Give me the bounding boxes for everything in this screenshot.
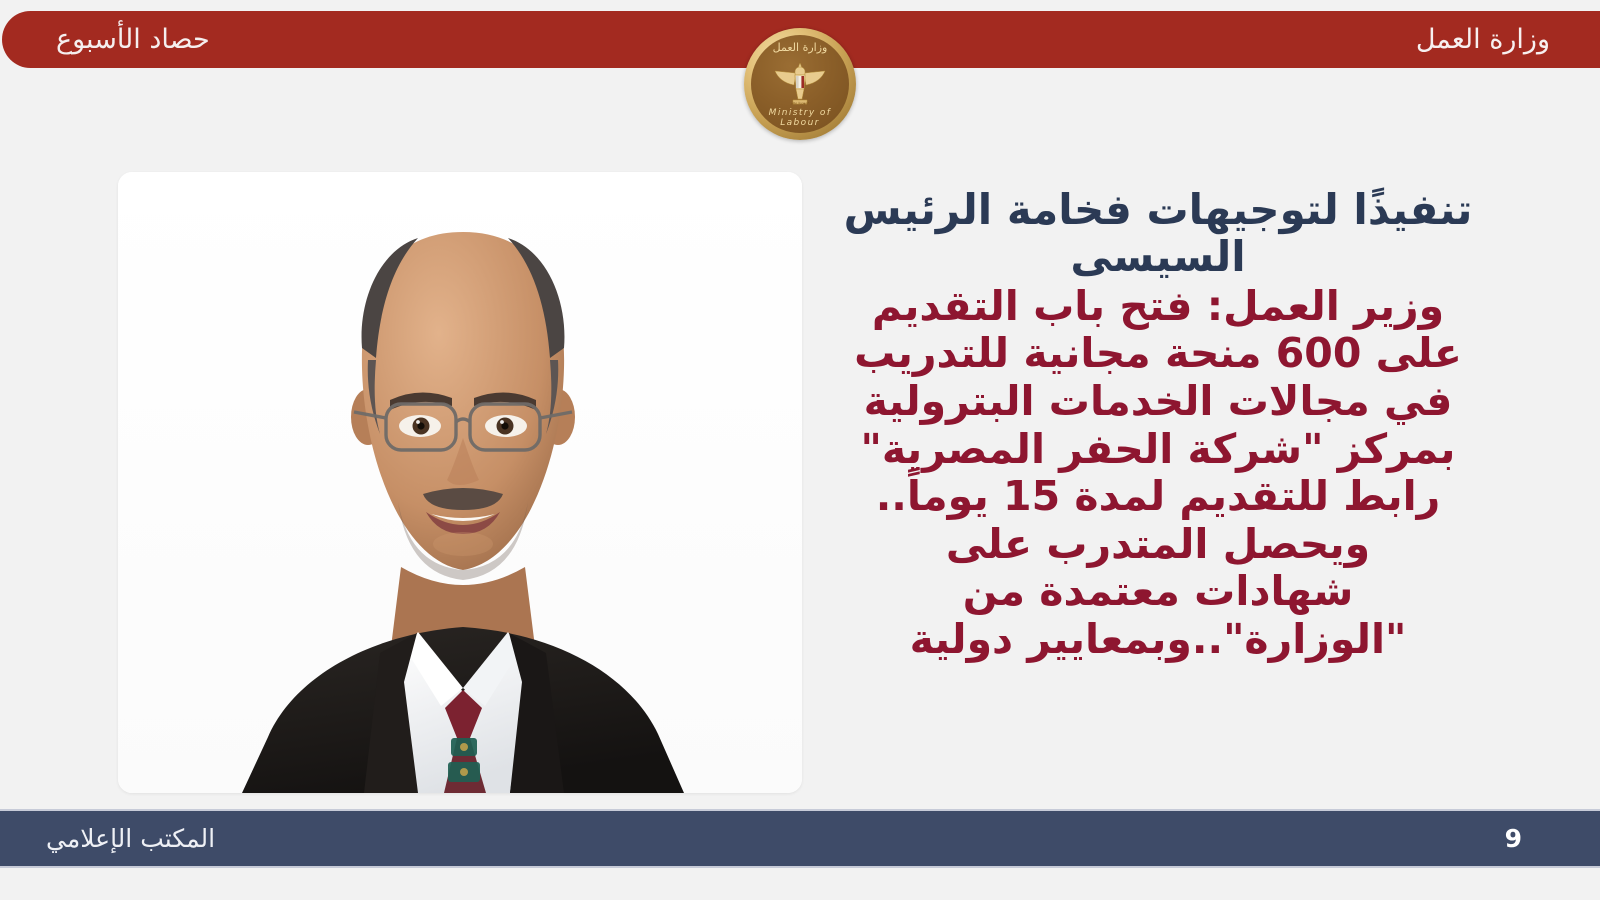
- body-line-1: وزير العمل: فتح باب التقديم: [822, 283, 1494, 331]
- svg-text:جمهورية مصر: جمهورية مصر: [790, 100, 809, 104]
- body-line-3: في مجالات الخدمات البترولية: [822, 378, 1494, 426]
- headline: تنفيذًا لتوجيهات فخامة الرئيس السيسى: [822, 186, 1494, 281]
- body-line-4: بمركز "شركة الحفر المصرية": [822, 426, 1494, 474]
- body-line-8: "الوزارة"..وبمعايير دولية: [822, 616, 1494, 664]
- logo-latin-label: Ministry of Labour: [751, 108, 849, 128]
- footer-media-office-label: المكتب الإعلامي: [46, 809, 215, 868]
- minister-portrait-image: [118, 172, 802, 793]
- logo-arabic-label: وزارة العمل: [751, 41, 849, 54]
- ministry-logo: وزارة العمل جمهورية مصر Ministry of Labo…: [744, 28, 856, 140]
- header-ministry-label: وزارة العمل: [1416, 11, 1550, 68]
- body-line-6: ويحصل المتدرب على: [822, 521, 1494, 569]
- headline-line-1: تنفيذًا لتوجيهات فخامة: [1007, 185, 1473, 234]
- portrait-photo-card: [118, 172, 802, 793]
- body-paragraph: وزير العمل: فتح باب التقديم على 600 منحة…: [822, 283, 1494, 663]
- body-line-5: رابط للتقديم لمدة 15 يوماً..: [822, 473, 1494, 521]
- header-section-label: حصاد الأسبوع: [56, 11, 210, 68]
- slide-canvas: حصاد الأسبوع وزارة العمل وزارة العمل ج: [0, 0, 1600, 900]
- body-line-2: على 600 منحة مجانية للتدريب: [822, 330, 1494, 378]
- eagle-of-saladin-icon: جمهورية مصر: [771, 59, 829, 109]
- footer-bar: [0, 809, 1600, 868]
- content-text-column: تنفيذًا لتوجيهات فخامة الرئيس السيسى وزي…: [822, 186, 1494, 663]
- logo-inner-disc: وزارة العمل جمهورية مصر Ministry of Labo…: [751, 35, 849, 133]
- body-line-7: شهادات معتمدة من: [822, 568, 1494, 616]
- page-number: 9: [1505, 809, 1522, 868]
